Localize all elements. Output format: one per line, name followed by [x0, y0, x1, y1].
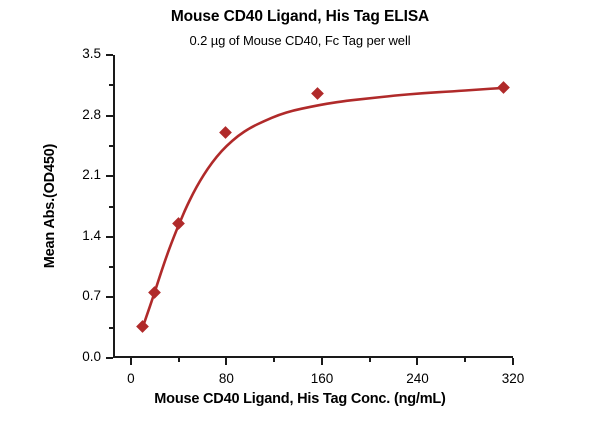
y-tick-major: [106, 115, 113, 117]
elisa-chart: Mouse CD40 Ligand, His Tag ELISA 0.2 µg …: [0, 0, 600, 421]
x-tick-label: 0: [101, 371, 161, 386]
y-tick-major: [106, 54, 113, 56]
y-tick-major: [106, 175, 113, 177]
y-tick-label: 1.4: [57, 228, 101, 243]
chart-title: Mouse CD40 Ligand, His Tag ELISA: [0, 8, 600, 26]
y-tick-major: [106, 357, 113, 359]
x-tick-label: 80: [196, 371, 256, 386]
y-tick-major: [106, 296, 113, 298]
fit-curve: [113, 55, 513, 358]
y-tick-label: 2.1: [57, 167, 101, 182]
x-tick-label: 320: [483, 371, 543, 386]
x-axis-tick-labels: 080160240320: [113, 358, 513, 388]
x-tick-label: 240: [387, 371, 447, 386]
plot-area: 0.00.71.42.12.83.5 080160240320: [113, 55, 513, 358]
y-tick-label: 2.8: [57, 107, 101, 122]
y-tick-label: 0.0: [57, 349, 101, 364]
y-tick-label: 3.5: [57, 46, 101, 61]
y-axis-tick-labels: 0.00.71.42.12.83.5: [55, 55, 101, 358]
x-axis-title: Mouse CD40 Ligand, His Tag Conc. (ng/mL): [0, 391, 600, 407]
y-tick-label: 0.7: [57, 288, 101, 303]
y-tick-major: [106, 236, 113, 238]
x-tick-label: 160: [292, 371, 352, 386]
